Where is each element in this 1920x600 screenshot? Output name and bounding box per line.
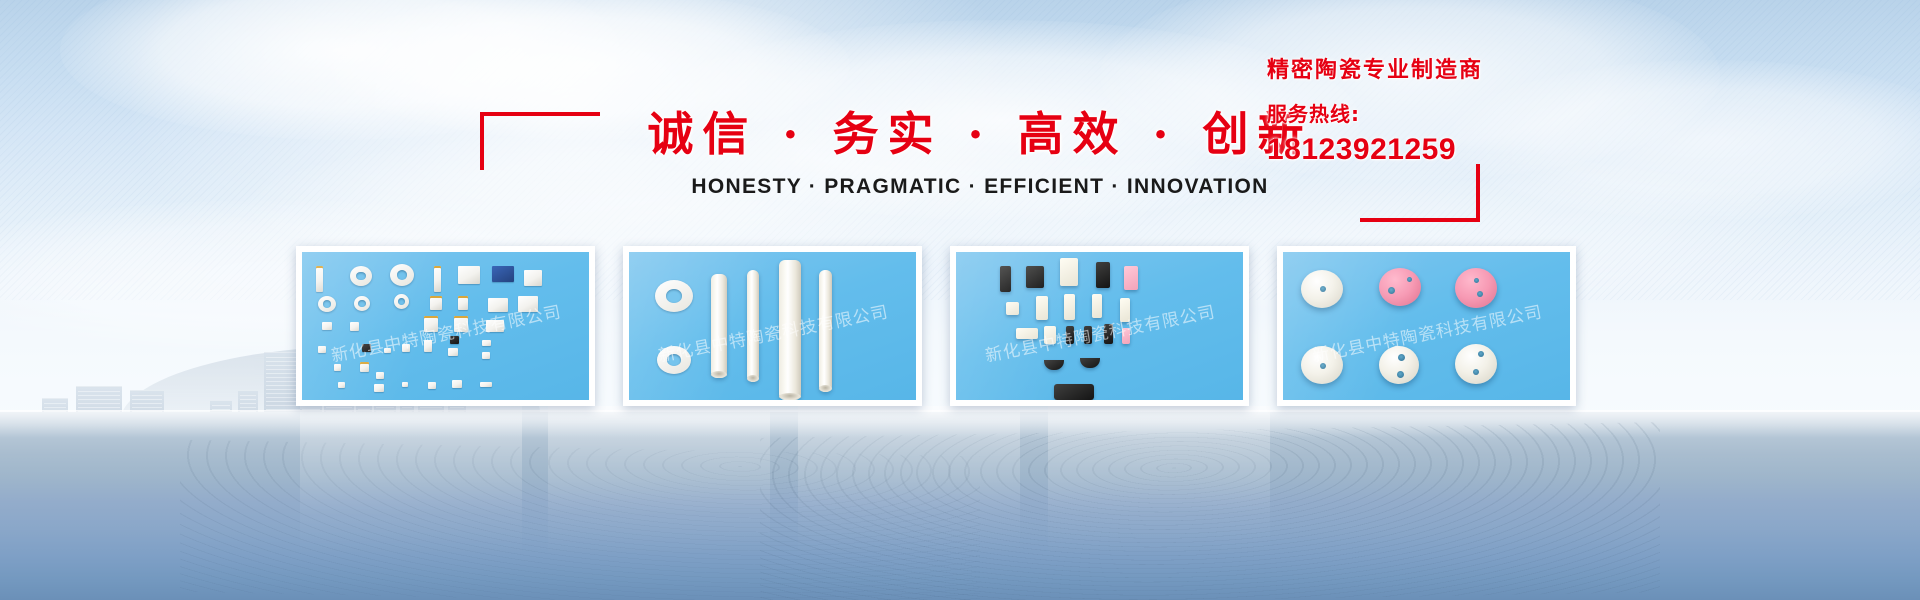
- bracket-bottom-right-decoration: [1360, 164, 1480, 222]
- bracket-top-left-decoration: [480, 112, 600, 170]
- product-panel-row: 新化县中特陶瓷科技有限公司 新化县中特陶瓷科技有限公司: [296, 246, 1576, 406]
- panel-glare: [629, 252, 847, 400]
- slogan-english: HONESTY · PRAGMATIC · EFFICIENT · INNOVA…: [590, 175, 1370, 199]
- company-tagline: 精密陶瓷专业制造商: [1267, 52, 1627, 84]
- product-panel-ceramic-blocks[interactable]: 新化县中特陶瓷科技有限公司: [950, 246, 1249, 406]
- product-panel-smd-components[interactable]: 新化县中特陶瓷科技有限公司: [296, 246, 595, 406]
- water-ripples-left: [180, 440, 980, 600]
- hotline-label: 服务热线:: [1267, 98, 1627, 127]
- product-panel-ceramic-discs[interactable]: 新化县中特陶瓷科技有限公司: [1277, 246, 1576, 406]
- panel-image-blocks: 新化县中特陶瓷科技有限公司: [956, 252, 1243, 400]
- hotline-number[interactable]: 18123921259: [1267, 133, 1627, 167]
- panel-watermark: 新化县中特陶瓷科技有限公司: [1309, 297, 1543, 366]
- panel-image-tubes: 新化县中特陶瓷科技有限公司: [629, 252, 916, 400]
- product-panel-ceramic-tubes[interactable]: 新化县中特陶瓷科技有限公司: [623, 246, 922, 406]
- panel-image-smd: 新化县中特陶瓷科技有限公司: [302, 252, 589, 400]
- slogan-block: 诚信 · 务实 · 高效 · 创新 HONESTY · PRAGMATIC · …: [590, 108, 1370, 218]
- contact-block: 精密陶瓷专业制造商 服务热线: 18123921259: [1267, 52, 1627, 167]
- slogan-chinese: 诚信 · 务实 · 高效 · 创新: [590, 108, 1370, 161]
- product-banner: 诚信 · 务实 · 高效 · 创新 HONESTY · PRAGMATIC · …: [0, 0, 1920, 600]
- panel-image-discs: 新化县中特陶瓷科技有限公司: [1283, 252, 1570, 400]
